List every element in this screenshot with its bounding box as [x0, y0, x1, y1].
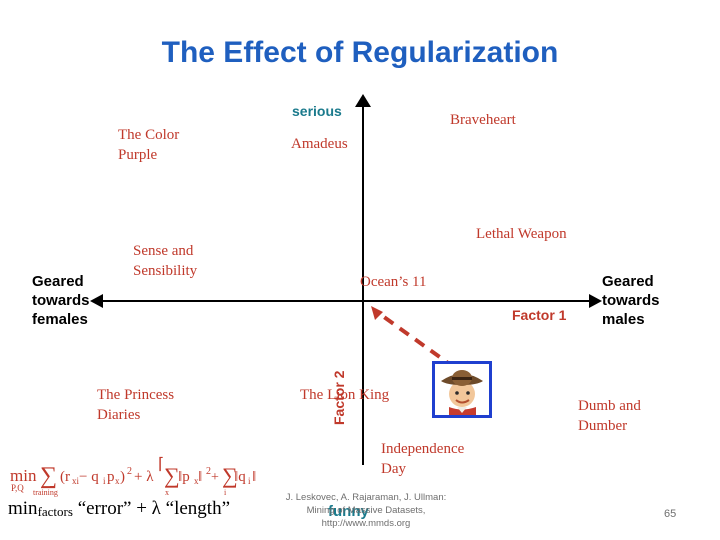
svg-text:2: 2 — [127, 466, 132, 477]
axis-label-geared-towards-males: Geared towards males — [602, 273, 687, 329]
movie-label: Amadeus — [291, 134, 348, 154]
geared-males-line3: males — [602, 311, 687, 330]
geared-males-line2: towards — [602, 292, 687, 311]
movie-lethal-weapon: Lethal Weapon — [476, 224, 567, 244]
movie-label: Ocean’s 11 — [360, 272, 427, 292]
movie-label: Sensibility — [133, 261, 197, 281]
movie-amadeus: Amadeus — [291, 134, 348, 154]
min-label: min — [8, 498, 38, 519]
credit-line-3: http://www.mmds.org — [256, 518, 476, 531]
svg-text:+: + — [211, 470, 219, 485]
movie-label: Independence — [381, 439, 464, 459]
min-subscript: factors — [38, 504, 73, 519]
movie-the-lion-king: The Lion King — [300, 385, 389, 405]
svg-text:x: x — [165, 488, 169, 497]
axis-arrow-up-icon — [355, 94, 371, 107]
axis-label-geared-towards-females: Geared towards females — [32, 273, 112, 329]
svg-text:p: p — [107, 469, 115, 485]
horizontal-axis-line — [96, 300, 596, 302]
svg-text:‖: ‖ — [198, 469, 202, 485]
movie-dumb-and-dumber: Dumb and Dumber — [578, 396, 641, 437]
citation-credit: J. Leskovec, A. Rajaraman, J. Ullman: Mi… — [256, 492, 476, 530]
credit-line-1: J. Leskovec, A. Rajaraman, J. Ullman: — [256, 492, 476, 505]
svg-text:‖p: ‖p — [178, 469, 190, 485]
movie-label: Day — [381, 459, 464, 479]
page-number: 65 — [664, 508, 676, 520]
movie-label: Dumber — [578, 416, 641, 436]
geared-females-line1: Geared — [32, 273, 112, 292]
svg-text:i: i — [224, 488, 227, 497]
movie-label: Lethal Weapon — [476, 224, 567, 244]
svg-text:): ) — [120, 469, 125, 485]
objective-function-formula: min P,Q ∑ training (r xi − q i p x ) 2 +… — [8, 455, 258, 503]
movie-label: The Lion King — [300, 385, 389, 405]
cowboy-illustration-icon — [435, 364, 489, 415]
movie-independence-day: Independence Day — [381, 439, 464, 480]
movie-label: The Princess — [97, 385, 174, 405]
movie-the-color-purple: The Color Purple — [118, 125, 179, 166]
svg-text:i: i — [103, 476, 106, 486]
svg-text:‖q: ‖q — [234, 469, 246, 485]
movie-label: The Color — [118, 125, 179, 145]
svg-text:(r: (r — [60, 469, 70, 485]
formula-icon: min P,Q ∑ training (r xi − q i p x ) 2 +… — [8, 455, 258, 503]
svg-text:∑: ∑ — [40, 463, 57, 489]
error-length-label: “error” + λ “length” — [78, 498, 230, 519]
axis-arrow-right-icon — [589, 294, 602, 308]
movie-oceans-11: Ocean’s 11 — [360, 272, 427, 292]
slide-canvas: The Effect of Regularization serious fun… — [0, 0, 720, 540]
movie-thumbnail[interactable] — [432, 361, 492, 418]
svg-text:‖: ‖ — [252, 469, 256, 485]
movie-label: Diaries — [97, 405, 174, 425]
svg-text:− q: − q — [79, 469, 99, 485]
svg-text:training: training — [33, 488, 58, 497]
axis-label-serious: serious — [292, 103, 342, 119]
credit-line-2: Mining of Massive Datasets, — [256, 505, 476, 518]
factor1-label: Factor 1 — [512, 307, 566, 323]
movie-the-princess-diaries: The Princess Diaries — [97, 385, 174, 426]
geared-females-line3: females — [32, 311, 112, 330]
movie-label: Purple — [118, 145, 179, 165]
movie-sense-and-sensibility: Sense and Sensibility — [133, 241, 197, 282]
movie-label: Dumb and — [578, 396, 641, 416]
movie-braveheart: Braveheart — [450, 110, 516, 130]
geared-females-line2: towards — [32, 292, 112, 311]
movie-label: Braveheart — [450, 110, 516, 130]
dashed-arrow-icon — [355, 300, 465, 368]
svg-text:i: i — [248, 476, 251, 486]
movie-label: Sense and — [133, 241, 197, 261]
page-title: The Effect of Regularization — [0, 36, 720, 70]
geared-males-line1: Geared — [602, 273, 687, 292]
svg-text:P,Q: P,Q — [11, 483, 24, 493]
objective-plain-text: minfactors “error” + λ “length” — [8, 498, 230, 520]
svg-text:+ λ: + λ — [134, 469, 154, 485]
